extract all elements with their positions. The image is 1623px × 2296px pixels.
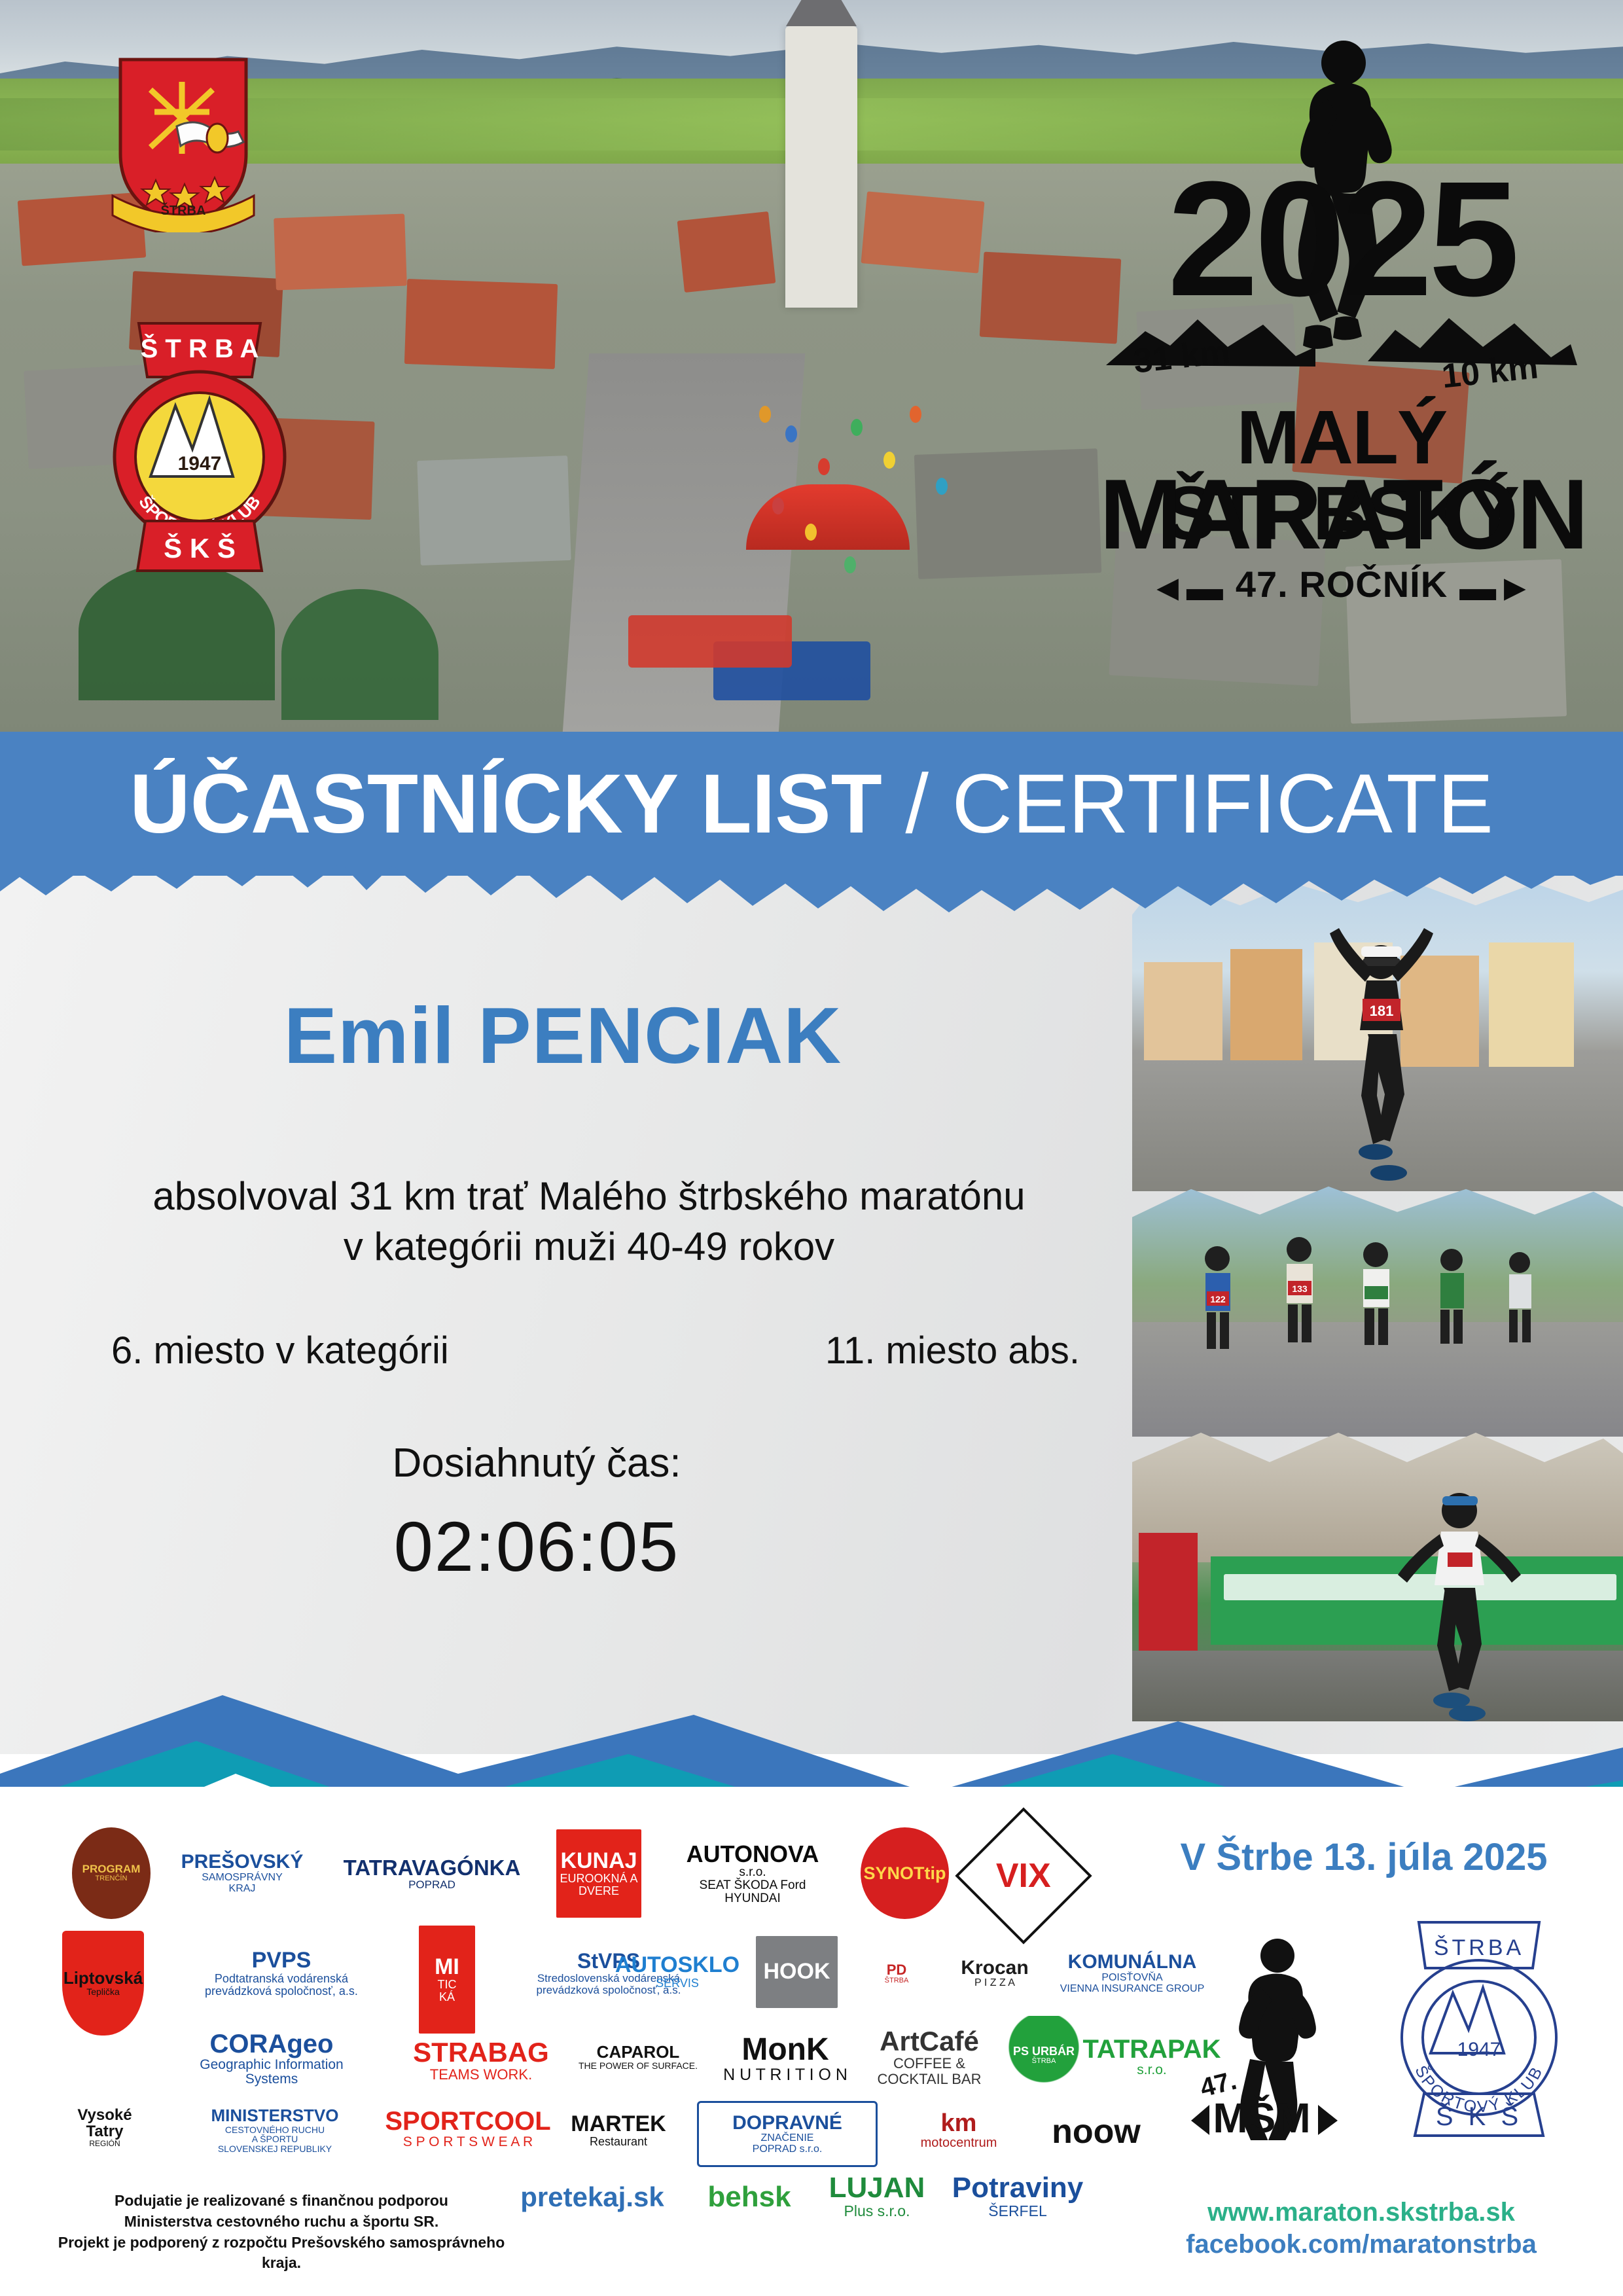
contact-urls: www.maraton.skstrba.sk facebook.com/mara… [1126, 2197, 1597, 2261]
crowd-dot [844, 556, 856, 573]
sponsor-logo: LUJANPlus s.r.o. [821, 2166, 933, 2225]
sponsor-logo: MonKN U T R I T I O N [720, 2026, 851, 2091]
sponsor-logo-line: SAMOSPRÁVNY [181, 1873, 304, 1884]
place-in-category: 6. miesto v kategórii [85, 1329, 475, 1372]
website-url[interactable]: www.maraton.skstrba.sk [1126, 2197, 1597, 2229]
sponsor-logo: PREŠOVSKÝSAMOSPRÁVNYKRAJ [167, 1834, 317, 1912]
sponsor-logo-line: TIC [435, 1979, 459, 1991]
sponsor-logo-line: Podtatranská vodárenská [205, 1973, 358, 1985]
sponsor-logo-line: POPRAD s.r.o. [732, 2144, 842, 2155]
sponsor-logo-line: AUTONOVA [671, 1842, 834, 1867]
sponsor-logo: kmmotocentrum [903, 2094, 1014, 2166]
sponsor-logo: MITICKÁ [419, 1926, 475, 2034]
sponsor-logo-line: km [921, 2111, 997, 2137]
sponsor-logo-line: PS URBÁR [1013, 2045, 1075, 2058]
sponsor-logo-line: PD [885, 1962, 909, 1977]
sponsor-logo: TATRAVAGÓNKAPOPRAD [347, 1838, 517, 1910]
sponsor-logo: PROGRAMTRENČÍN [72, 1827, 151, 1919]
svg-text:181: 181 [1370, 1003, 1394, 1019]
sponsor-logo-line: MINISTERSTVO [211, 2107, 338, 2125]
sponsor-logo: ArtCaféCOFFEE & COCKTAIL BAR [864, 2019, 995, 2094]
roof [404, 279, 558, 369]
sponsor-logo: STRABAGTEAMS WORK. [406, 2029, 556, 2091]
sponsor-logo-line: TATRAVAGÓNKA [344, 1857, 521, 1880]
roof [677, 211, 776, 293]
sponsor-logo-line: HOOK [764, 1960, 830, 1984]
sponsor-logo-line: SLOVENSKEJ REPUBLIKY [211, 2144, 338, 2154]
msm-acronym: MŠM [1213, 2094, 1310, 2140]
sponsor-logo-line: Plus s.r.o. [829, 2203, 925, 2219]
sponsor-logo-line: Vysoké Tatry [59, 2107, 151, 2140]
sponsor-logo-line: pretekaj.sk [520, 2183, 664, 2212]
sponsor-logo-line: Potraviny [952, 2173, 1084, 2203]
sks-bottom-text: Š K Š [1436, 2102, 1522, 2131]
roof [914, 448, 1101, 579]
sponsor-logo: KUNAJEUROOKNÁ A DVERE [556, 1829, 641, 1918]
sponsor-logo-line: MI [435, 1956, 459, 1979]
sponsor-logo: HOOK [756, 1936, 838, 2008]
sponsor-logo-line: SERVIS [615, 1977, 740, 1990]
sponsor-logo-line: A ŠPORTU [211, 2134, 338, 2144]
certificate-page: ŠTRBA Š T R B A 1947 ŠPORTOVÝ KLUB Š K Š [0, 0, 1623, 2296]
roof [861, 191, 985, 273]
disclaimer-line-3: Projekt je podporený z rozpočtu Prešovsk… [39, 2233, 524, 2274]
sponsor-logo: AUTONOVAs.r.o.SEAT ŠKODA Ford HYUNDAI [671, 1829, 834, 1918]
funding-disclaimer: Podujatie je realizované s finančnou pod… [39, 2191, 524, 2274]
sponsor-logo-line: EUROOKNÁ A DVERE [556, 1873, 641, 1897]
svg-text:1947: 1947 [178, 453, 222, 475]
crowd-dot [759, 406, 771, 423]
sponsor-logo-line: TEAMS WORK. [413, 2067, 549, 2082]
sponsor-logo-line: DOPRAVNÉ [732, 2113, 842, 2134]
msm-badge: 47. MŠM [1178, 1924, 1348, 2140]
participant-name: Emil PENCIAK [79, 990, 1047, 1081]
sponsor-logo-line: KRAJ [181, 1884, 304, 1895]
crowd-dot [805, 524, 817, 541]
facebook-url[interactable]: facebook.com/maratonstrba [1126, 2229, 1597, 2261]
sponsor-logo-line: N U T R I T I O N [723, 2066, 847, 2083]
arrow-right-icon: ▬► [1459, 566, 1533, 609]
sponsor-logo-line: noow [1052, 2114, 1141, 2150]
sponsor-logo-line: TRENČÍN [82, 1875, 141, 1883]
sponsor-logo: PVPSPodtatranská vodárenskáprevádzková s… [173, 1934, 389, 2013]
sponsor-logo-line: PROGRAM [82, 1863, 141, 1875]
sks-top-text: ŠTRBA [1434, 1935, 1524, 1960]
crowd-dot [772, 497, 784, 514]
sponsor-logo-line: MARTEK [571, 2113, 666, 2136]
sponsor-logo-line: COFFEE & COCKTAIL BAR [864, 2056, 995, 2086]
description-line-1: absolvoval 31 km trať Malého štrbského m… [79, 1172, 1099, 1222]
sponsor-logo-line: Teplička [63, 1987, 143, 1997]
title-sk: ÚČASTNÍCKY LIST [130, 757, 882, 851]
sponsor-logo: Vysoké TatryREGIÓN [59, 2088, 151, 2166]
sponsor-logo-line: s.r.o. [671, 1866, 834, 1879]
sponsor-logo: PS URBÁRŠTRBA [1008, 2016, 1080, 2094]
sponsor-logo: VIX [955, 1807, 1092, 1944]
sponsor-logo-line: CAPAROL [579, 2043, 698, 2061]
sponsor-logo: behsk [687, 2174, 811, 2220]
strba-coat-of-arms: ŠTRBA [111, 56, 255, 232]
svg-text:Š K Š: Š K Š [164, 532, 236, 564]
place-absolute: 11. miesto abs. [799, 1329, 1106, 1372]
crowd-dot [936, 478, 948, 495]
crowd-dot [785, 425, 797, 442]
sks-club-badge: ŠTRBA 1947 ŠPORTOVÝ KLUB Š K Š [1381, 1914, 1577, 2140]
sponsor-logo-line: THE POWER OF SURFACE. [579, 2061, 698, 2071]
sponsor-logo-line: SYNOTtip [864, 1864, 946, 1882]
event-name-line2: MARATÓN [1099, 465, 1584, 564]
sponsor-logo-line: CORAgeo [177, 2030, 366, 2058]
sponsor-logo: KrocanP I Z Z A [952, 1934, 1037, 2013]
photo-collage: 181 122 133 [1106, 877, 1623, 1721]
strba-emblem-text: ŠTRBA [161, 202, 206, 218]
sponsor-logo-line: Restaurant [571, 2136, 666, 2148]
sponsor-logo-line: behsk [707, 2182, 791, 2212]
sponsor-logo: DOPRAVNÉZNAČENIEPOPRAD s.r.o. [697, 2101, 878, 2167]
crowd-dot [883, 452, 895, 469]
title-separator: / [882, 757, 952, 851]
sponsor-logo-line: ŠERFEL [952, 2203, 1084, 2219]
description-line-2: v kategórii muži 40-49 rokov [79, 1222, 1099, 1272]
church-building [785, 26, 857, 308]
arrow-left-icon: ◄▬ [1149, 566, 1223, 609]
sponsor-logo: LiptovskáTeplička [62, 1931, 144, 2036]
sponsor-grid: PROGRAMTRENČÍNPREŠOVSKÝSAMOSPRÁVNYKRAJTA… [26, 1800, 1178, 2219]
sponsor-logo-line: CESTOVNÉHO RUCHU [211, 2125, 338, 2135]
sponsor-logo: SYNOTtip [861, 1827, 949, 1919]
time-label: Dosiahnutý čas: [79, 1440, 995, 1486]
sponsor-logo: PDŠTRBA [857, 1934, 936, 2013]
sponsor-logo-line: PVPS [205, 1949, 358, 1973]
roof [79, 563, 275, 700]
sponsor-logo-line: ŠTRBA [885, 1977, 909, 1985]
event-edition: ◄▬47. ROČNÍK▬► [1099, 563, 1584, 609]
sponsor-logo-line: MonK [723, 2034, 847, 2066]
crowd-dot [818, 458, 830, 475]
sponsor-logo-line: motocentrum [921, 2136, 997, 2150]
sponsor-logo-line: STRABAG [413, 2038, 549, 2067]
disclaimer-line-2: Ministerstva cestovného ruchu a športu S… [39, 2212, 524, 2233]
sponsor-logo: CAPAROLTHE POWER OF SURFACE. [576, 2019, 700, 2094]
event-year: 2025 [1099, 157, 1584, 321]
sponsor-logo-line: ŠTRBA [1013, 2058, 1075, 2066]
disclaimer-line-1: Podujatie je realizované s finančnou pod… [39, 2191, 524, 2212]
finish-time: 02:06:05 [79, 1505, 995, 1587]
edition-label: 47. ROČNÍK [1236, 564, 1448, 605]
page-title: ÚČASTNÍCKY LIST / CERTIFICATE [130, 756, 1493, 852]
sponsor-logo: CORAgeoGeographic Information Systems [177, 2026, 366, 2091]
sponsor-logo: AUTOSKLOSERVIS [615, 1941, 740, 2003]
title-band-jagged-edge [0, 851, 1623, 929]
sponsor-logo: SPORTCOOLS P O R T S W E A R [393, 2098, 543, 2160]
crowd-dot [628, 615, 792, 668]
sponsor-logo-line: S P O R T S W E A R [385, 2135, 550, 2149]
sponsor-logo-line: REGIÓN [59, 2140, 151, 2148]
photo-pack-of-runners: 122 133 [1132, 1181, 1623, 1437]
sponsor-logo-line: Geographic Information Systems [177, 2058, 366, 2087]
certificate-description: absolvoval 31 km trať Malého štrbského m… [79, 1172, 1099, 1272]
sponsor-logo-line: KÁ [435, 1991, 459, 2003]
roof [417, 456, 571, 565]
date-and-place: V Štrbe 13. júla 2025 [1135, 1835, 1593, 1879]
sponsor-logo: PotravinyŠERFEL [952, 2166, 1083, 2225]
sponsor-logo-line: SEAT ŠKODA Ford HYUNDAI [671, 1879, 834, 1905]
sponsor-logo-line: VIX [996, 1858, 1051, 1894]
placement-row: 6. miesto v kategórii 11. miesto abs. [85, 1329, 1106, 1372]
svg-text:133: 133 [1292, 1283, 1308, 1294]
sks-year: 1947 [1457, 2039, 1501, 2060]
roof [281, 589, 438, 720]
title-en: CERTIFICATE [952, 757, 1493, 851]
sponsor-logo-line: ArtCafé [864, 2027, 995, 2056]
sponsor-logo-line: ZNAČENIE [732, 2133, 842, 2144]
sponsor-logo-line: PREŠOVSKÝ [181, 1852, 304, 1873]
sponsor-logo-line: POPRAD [344, 1879, 521, 1891]
footer: PROGRAMTRENČÍNPREŠOVSKÝSAMOSPRÁVNYKRAJTA… [0, 1787, 1623, 2296]
sponsor-logo-line: KUNAJ [556, 1850, 641, 1873]
sponsor-logo-line: AUTOSKLO [615, 1954, 740, 1977]
sks-club-emblem: Š T R B A 1947 ŠPORTOVÝ KLUB Š K Š [105, 314, 294, 576]
roof [274, 214, 407, 291]
svg-text:Š T R B A: Š T R B A [141, 333, 259, 363]
sponsor-logo-line: P I Z Z A [961, 1978, 1028, 1989]
sponsor-logo-line: Liptovská [63, 1969, 143, 1987]
sponsor-logo-line: prevádzková spoločnosť, a.s. [205, 1985, 358, 1998]
sponsor-logo: pretekaj.sk [520, 2174, 664, 2220]
crowd-dot [910, 406, 921, 423]
sponsor-logo: MARTEKRestaurant [563, 2091, 674, 2170]
runner-group-figures: 122 133 [1132, 1181, 1623, 1437]
sponsor-logo-line: Krocan [961, 1958, 1028, 1979]
sponsor-logo-line: SPORTCOOL [385, 2108, 550, 2135]
svg-text:122: 122 [1210, 1294, 1226, 1304]
event-logo: 2025 31 km 10 km MALÝ ŠTRBSKÝ MARATÓN ◄▬… [1099, 39, 1584, 602]
crowd-dot [851, 419, 863, 436]
sponsor-logo: noow [1047, 2101, 1145, 2163]
hero-photo: ŠTRBA Š T R B A 1947 ŠPORTOVÝ KLUB Š K Š [0, 0, 1623, 733]
sponsor-logo: MINISTERSTVOCESTOVNÉHO RUCHUA ŠPORTUSLOV… [167, 2094, 383, 2166]
sponsor-logo-line: LUJAN [829, 2173, 925, 2203]
